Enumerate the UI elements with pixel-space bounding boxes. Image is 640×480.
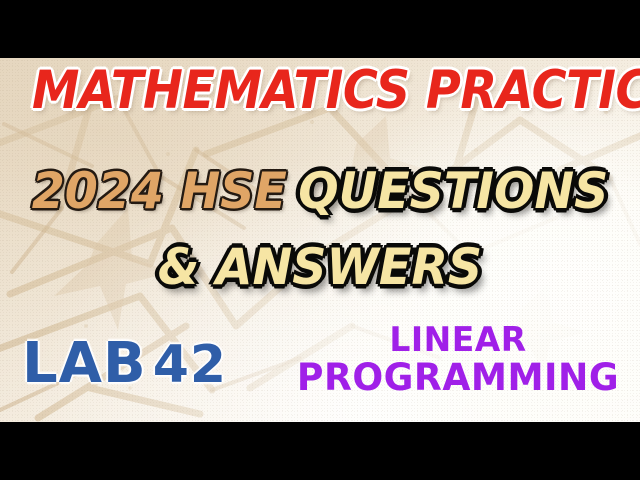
- page-title: MATHEMATICS PRACTICAL: [32, 64, 608, 117]
- letterbox-bar-top: [0, 0, 640, 58]
- topic-label: LINEAR PROGRAMMING: [286, 322, 630, 397]
- questions-label: QUESTIONS: [298, 162, 608, 220]
- answers-label: & ANSWERS: [16, 242, 624, 292]
- video-thumbnail: MATHEMATICS PRACTICAL 2024 HSEQUESTIONS …: [0, 0, 640, 480]
- topic-line-linear: LINEAR: [291, 322, 625, 358]
- year-label: 2024 HSE: [32, 162, 287, 220]
- year-questions-line: 2024 HSEQUESTIONS: [16, 166, 624, 216]
- letterbox-bar-bottom: [0, 422, 640, 480]
- lab-number: 42: [153, 335, 227, 395]
- lab-identifier: LAB42: [22, 336, 227, 392]
- lab-word: LAB: [22, 331, 147, 396]
- thumbnail-text-layer: MATHEMATICS PRACTICAL 2024 HSEQUESTIONS …: [0, 58, 640, 422]
- topic-line-programming: PROGRAMMING: [289, 358, 626, 397]
